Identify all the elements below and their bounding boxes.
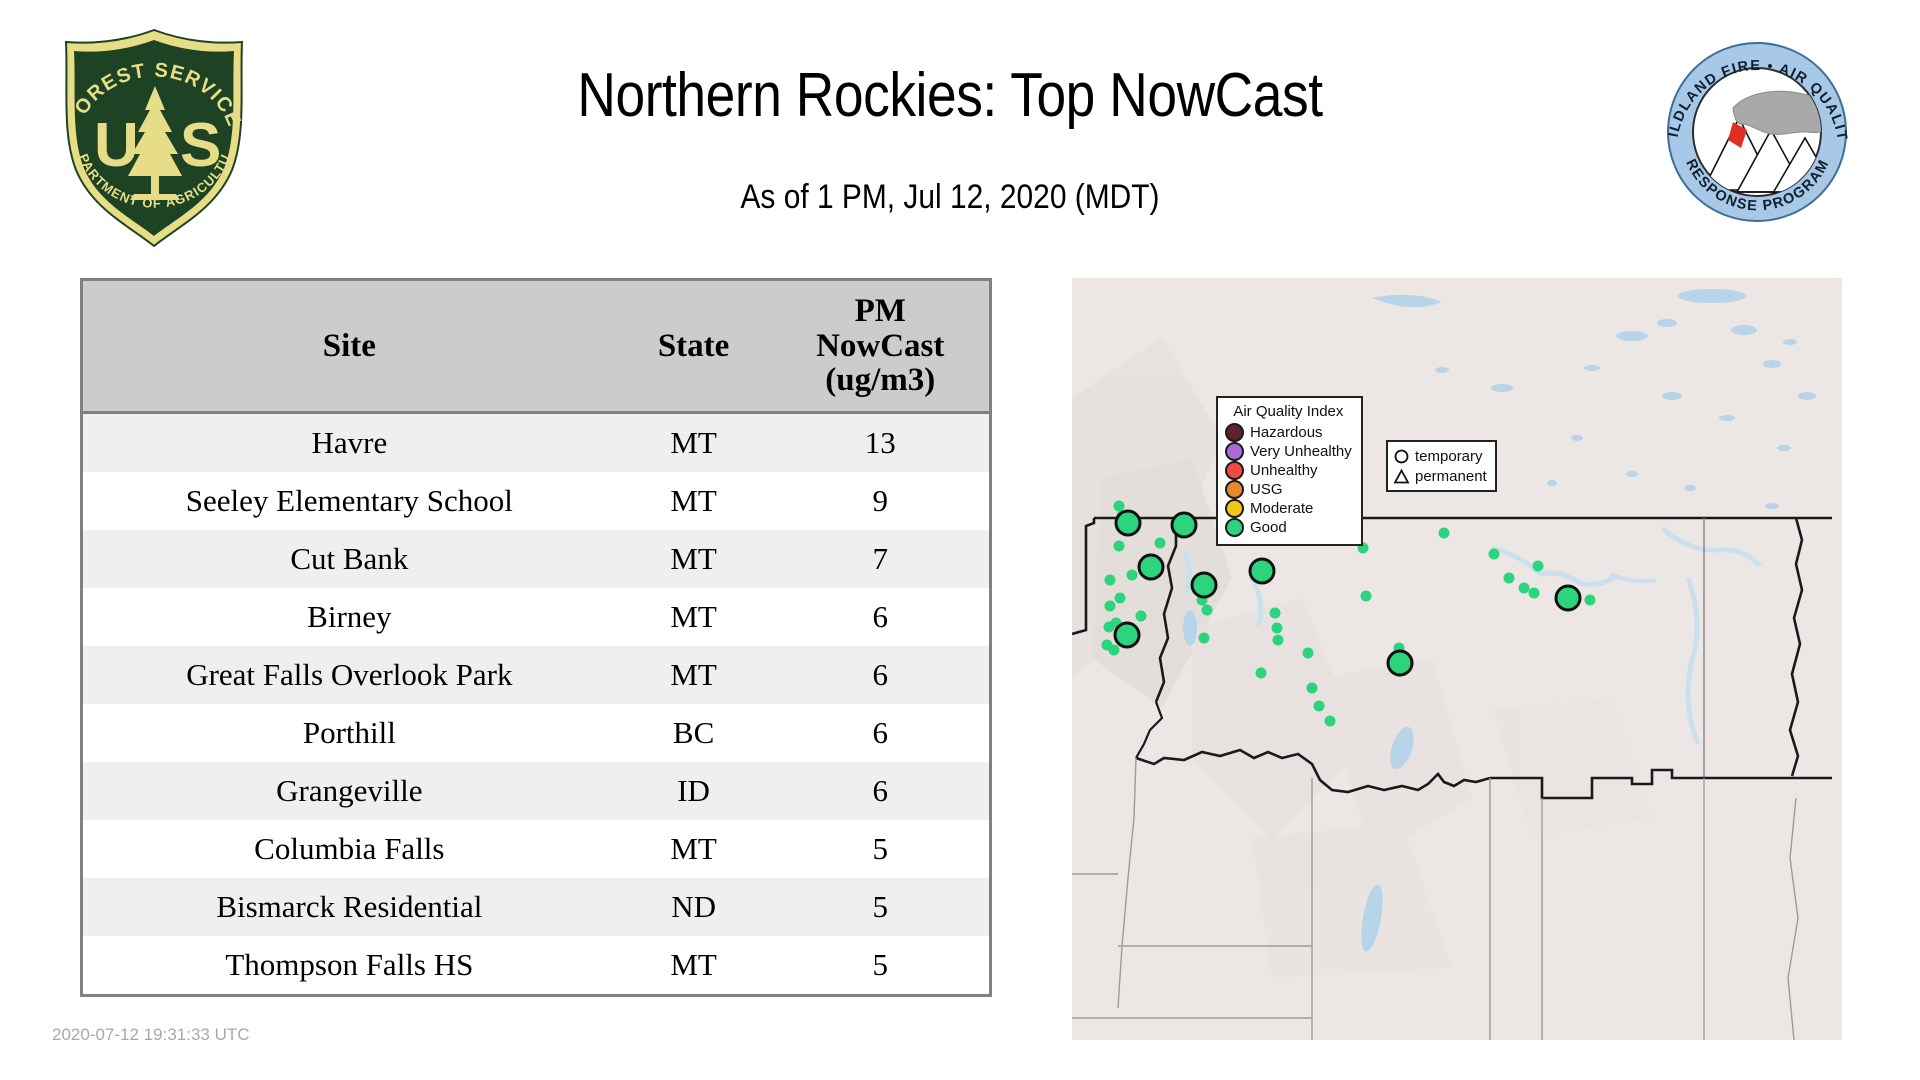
monitor-marker (1270, 608, 1281, 619)
table-row: Columbia Falls MT 5 (82, 820, 991, 878)
monitor-marker (1136, 611, 1147, 622)
legend-label-good: Good (1250, 520, 1287, 535)
legend-item-usg: USG (1225, 480, 1352, 499)
monitor-marker[interactable] (1388, 651, 1412, 675)
table-row: Porthill BC 6 (82, 704, 991, 762)
table-row: Cut Bank MT 7 (82, 530, 991, 588)
legend-label-unhealthy: Unhealthy (1250, 463, 1318, 478)
cell-value: 5 (771, 936, 990, 996)
cell-value: 9 (771, 472, 990, 530)
cell-state: MT (616, 472, 772, 530)
column-header-pm-line3: (ug/m3) (825, 362, 935, 398)
cell-state: MT (616, 820, 772, 878)
cell-value: 7 (771, 530, 990, 588)
monitor-marker[interactable] (1116, 511, 1140, 535)
monitor-marker (1256, 668, 1267, 679)
cell-state: MT (616, 588, 772, 646)
aqi-legend-title: Air Quality Index (1225, 403, 1352, 420)
page-title: Northern Rockies: Top NowCast (357, 60, 1544, 131)
triangle-glyph-icon (1393, 468, 1410, 485)
usfs-shield-logo: FOREST SERVICE U S DEPARTMENT OF AGRICUL… (52, 26, 257, 251)
monitor-marker (1314, 701, 1325, 712)
monitor-marker (1529, 588, 1540, 599)
aqi-legend: Air Quality Index Hazardous Very Unhealt… (1216, 396, 1363, 546)
cell-site: Bismarck Residential (82, 878, 616, 936)
monitor-marker[interactable] (1115, 623, 1139, 647)
monitor-marker (1325, 716, 1336, 727)
monitor-marker (1272, 623, 1283, 634)
monitor-marker[interactable] (1172, 513, 1196, 537)
monitor-marker (1105, 575, 1116, 586)
monitor-marker (1307, 683, 1318, 694)
circle-glyph-icon (1393, 448, 1410, 465)
legend-item-permanent: permanent (1393, 466, 1487, 486)
column-header-pm-nowcast: PM NowCast (ug/m3) (771, 280, 990, 413)
table-row: Seeley Elementary School MT 9 (82, 472, 991, 530)
monitor-marker[interactable] (1250, 559, 1274, 583)
legend-item-moderate: Moderate (1225, 499, 1352, 518)
monitor-marker[interactable] (1556, 586, 1580, 610)
cell-value: 13 (771, 413, 990, 473)
cell-state: ID (616, 762, 772, 820)
cell-state: MT (616, 530, 772, 588)
good-swatch-icon (1225, 518, 1244, 537)
cell-site: Seeley Elementary School (82, 472, 616, 530)
cell-site: Grangeville (82, 762, 616, 820)
legend-label-moderate: Moderate (1250, 501, 1313, 516)
cell-site: Thompson Falls HS (82, 936, 616, 996)
monitor-marker (1585, 595, 1596, 606)
monitor-marker (1114, 541, 1125, 552)
monitor-marker (1504, 573, 1515, 584)
table-body: Havre MT 13 Seeley Elementary School MT … (82, 413, 991, 996)
monitor-marker (1439, 528, 1450, 539)
monitor-type-legend: temporary permanent (1386, 440, 1497, 492)
legend-item-good: Good (1225, 518, 1352, 537)
monitor-marker (1199, 633, 1210, 644)
legend-label-very-unhealthy: Very Unhealthy (1250, 444, 1352, 459)
monitor-marker (1533, 561, 1544, 572)
table-row: Havre MT 13 (82, 413, 991, 473)
table-header-row: Site State PM NowCast (ug/m3) (82, 280, 991, 413)
cell-value: 5 (771, 878, 990, 936)
legend-label-hazardous: Hazardous (1250, 425, 1323, 440)
nowcast-table: Site State PM NowCast (ug/m3) Havre MT (80, 278, 992, 997)
slide-root: FOREST SERVICE U S DEPARTMENT OF AGRICUL… (0, 0, 1920, 1080)
monitor-marker (1115, 593, 1126, 604)
cell-value: 6 (771, 588, 990, 646)
hazardous-swatch-icon (1225, 423, 1244, 442)
cell-site: Porthill (82, 704, 616, 762)
legend-item-temporary: temporary (1393, 446, 1487, 466)
map-canvas (1072, 278, 1842, 1040)
cell-site: Great Falls Overlook Park (82, 646, 616, 704)
cell-value: 5 (771, 820, 990, 878)
monitor-marker (1109, 645, 1120, 656)
table-header: Site State PM NowCast (ug/m3) (82, 280, 991, 413)
moderate-swatch-icon (1225, 499, 1244, 518)
table-row: Grangeville ID 6 (82, 762, 991, 820)
cell-site: Havre (82, 413, 616, 473)
column-header-site-label: Site (323, 328, 376, 364)
page-subtitle: As of 1 PM, Jul 12, 2020 (MDT) (343, 178, 1557, 217)
aqi-monitor-map[interactable] (1072, 278, 1842, 1040)
cell-site: Birney (82, 588, 616, 646)
monitor-marker (1155, 538, 1166, 549)
legend-item-unhealthy: Unhealthy (1225, 461, 1352, 480)
legend-item-very-unhealthy: Very Unhealthy (1225, 442, 1352, 461)
cell-state: BC (616, 704, 772, 762)
monitor-marker (1303, 648, 1314, 659)
cell-state: MT (616, 936, 772, 996)
usg-swatch-icon (1225, 480, 1244, 499)
generation-timestamp: 2020-07-12 19:31:33 UTC (52, 1025, 250, 1045)
monitor-marker[interactable] (1139, 555, 1163, 579)
monitor-marker (1489, 549, 1500, 560)
column-header-pm-line2: NowCast (816, 328, 944, 364)
monitor-marker (1105, 601, 1116, 612)
monitor-marker (1519, 583, 1530, 594)
monitor-marker (1114, 501, 1125, 512)
nowcast-table-container: Site State PM NowCast (ug/m3) Havre MT (80, 278, 992, 997)
unhealthy-swatch-icon (1225, 461, 1244, 480)
table-row: Thompson Falls HS MT 5 (82, 936, 991, 996)
very-unhealthy-swatch-icon (1225, 442, 1244, 461)
column-header-pm-line1: PM (855, 293, 906, 329)
monitor-marker (1127, 570, 1138, 581)
cell-state: ND (616, 878, 772, 936)
table-row: Great Falls Overlook Park MT 6 (82, 646, 991, 704)
legend-label-permanent: permanent (1415, 468, 1487, 485)
monitor-marker (1202, 605, 1213, 616)
cell-value: 6 (771, 762, 990, 820)
monitor-marker[interactable] (1192, 573, 1216, 597)
cell-state: MT (616, 646, 772, 704)
cell-site: Cut Bank (82, 530, 616, 588)
column-header-site: Site (82, 280, 616, 413)
monitor-marker (1273, 635, 1284, 646)
cell-value: 6 (771, 646, 990, 704)
wildland-fire-air-quality-response-program-logo: WILDLAND FIRE • AIR QUALITY RESPONSE PRO… (1655, 30, 1860, 235)
cell-state: MT (616, 413, 772, 473)
cell-value: 6 (771, 704, 990, 762)
monitor-marker (1361, 591, 1372, 602)
column-header-state: State (616, 280, 772, 413)
column-header-state-label: State (658, 328, 729, 364)
legend-label-temporary: temporary (1415, 448, 1483, 465)
legend-label-usg: USG (1250, 482, 1283, 497)
legend-item-hazardous: Hazardous (1225, 423, 1352, 442)
table-row: Bismarck Residential ND 5 (82, 878, 991, 936)
cell-site: Columbia Falls (82, 820, 616, 878)
table-row: Birney MT 6 (82, 588, 991, 646)
